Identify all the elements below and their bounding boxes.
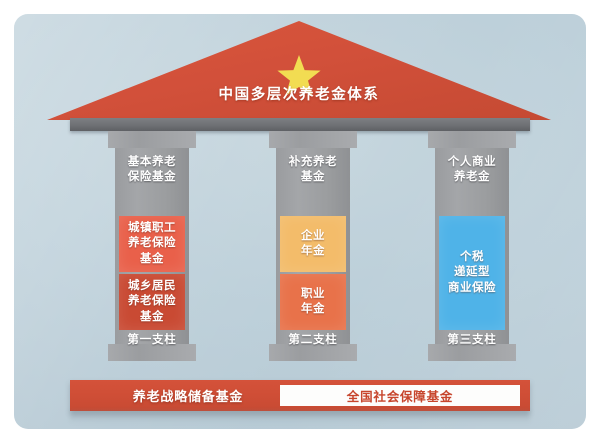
pillar-first-header: 基本养老 保险基金 (115, 155, 189, 185)
pillar-third-header-line1: 个人商业 (435, 155, 509, 170)
pillar-third-header: 个人商业 养老金 (435, 155, 509, 185)
pillar-second-footer: 第二支柱 (276, 331, 350, 347)
pillar-second-header-line1: 补充养老 (276, 155, 350, 170)
roof-pediment: 中国多层次养老金体系 (47, 21, 551, 120)
national-social-security-fund-label: 全国社会保障基金 (347, 386, 453, 405)
pillar-second-header-line2: 基金 (276, 170, 350, 185)
block-urban-rural-resident-pension-fund-label: 城乡居民养老保险基金 (128, 279, 176, 326)
pension-system-infographic: 中国多层次养老金体系 基本养老 保险基金 城镇职工养老保险基金 城乡居民养老保险… (14, 14, 586, 429)
roof-shape (47, 21, 551, 120)
pillar-first-header-line1: 基本养老 (115, 155, 189, 170)
block-urban-employee-pension-fund[interactable]: 城镇职工养老保险基金 (119, 216, 185, 272)
entablature-beam (70, 118, 530, 131)
pillar-second-capital (269, 131, 357, 148)
foundation-bar: 养老战略储备基金 全国社会保障基金 (70, 380, 530, 411)
pillar-second-header: 补充养老 基金 (276, 155, 350, 185)
block-occupational-annuity-label: 职业年金 (301, 287, 325, 318)
national-social-security-fund-box[interactable]: 全国社会保障基金 (280, 385, 520, 406)
pillar-first-capital (108, 131, 196, 148)
block-urban-rural-resident-pension-fund[interactable]: 城乡居民养老保险基金 (119, 274, 185, 330)
block-urban-employee-pension-fund-label: 城镇职工养老保险基金 (128, 221, 176, 268)
pillar-third-header-line2: 养老金 (435, 170, 509, 185)
pillar-second[interactable]: 补充养老 基金 企业年金 职业年金 第二支柱 (269, 131, 357, 361)
foundation-shadow (70, 411, 530, 423)
strategic-reserve-fund-label: 养老战略储备基金 (98, 380, 278, 411)
pillar-first-header-line2: 保险基金 (115, 170, 189, 185)
block-occupational-annuity[interactable]: 职业年金 (280, 274, 346, 330)
pillar-third[interactable]: 个人商业 养老金 个税递延型商业保险 第三支柱 (428, 131, 516, 361)
pillar-first-footer: 第一支柱 (115, 331, 189, 347)
block-enterprise-annuity[interactable]: 企业年金 (280, 216, 346, 272)
pillar-third-footer: 第三支柱 (435, 331, 509, 347)
pillar-third-capital (428, 131, 516, 148)
page-title: 中国多层次养老金体系 (47, 83, 551, 104)
pillar-first[interactable]: 基本养老 保险基金 城镇职工养老保险基金 城乡居民养老保险基金 第一支柱 (108, 131, 196, 361)
block-enterprise-annuity-label: 企业年金 (301, 229, 325, 260)
block-tax-deferred-commercial-insurance-label: 个税递延型商业保险 (448, 250, 496, 297)
block-tax-deferred-commercial-insurance[interactable]: 个税递延型商业保险 (439, 216, 505, 330)
